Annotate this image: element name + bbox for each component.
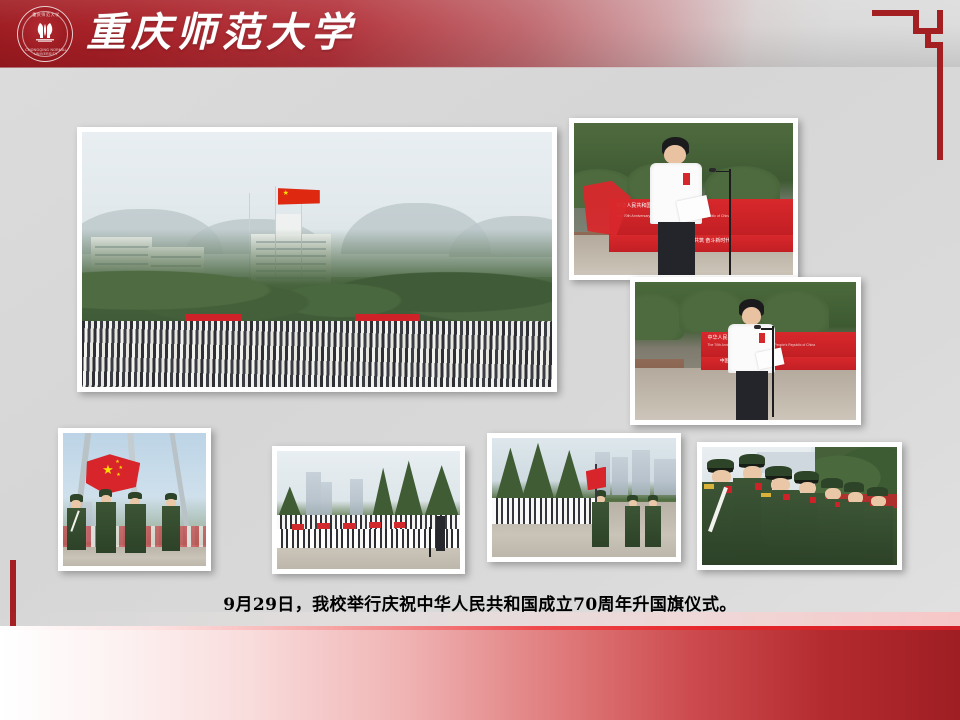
slide-canvas: 重庆师范大学 CHONGQING NORMAL UNIVERSITY 重庆师范大… bbox=[0, 0, 960, 720]
city-building bbox=[632, 450, 650, 495]
red-placard bbox=[343, 523, 356, 529]
red-banner bbox=[355, 314, 421, 321]
bottom-gradient-band bbox=[0, 626, 960, 720]
photo-students-assembly-image bbox=[277, 451, 460, 569]
honor-guard-member bbox=[123, 492, 147, 553]
tree bbox=[423, 465, 460, 519]
photo-speaker-top[interactable]: 中华人民共和国成立70周年 The 70th Anniversary of th… bbox=[569, 118, 798, 280]
city-building bbox=[654, 459, 676, 495]
photo-speaker-top-image: 中华人民共和国成立70周年 The 70th Anniversary of th… bbox=[574, 123, 793, 275]
speaker-person bbox=[640, 137, 714, 275]
photo-honor-guard-lineup-image bbox=[702, 447, 897, 565]
university-name-title: 重庆师范大学 bbox=[86, 4, 356, 62]
honor-guard-member bbox=[864, 487, 893, 565]
city-building bbox=[612, 457, 629, 495]
speaker-person bbox=[436, 516, 445, 551]
photo-main-ceremony-image: ★ bbox=[82, 132, 552, 387]
tree bbox=[521, 443, 554, 500]
city-building bbox=[306, 472, 321, 514]
hedge bbox=[635, 293, 684, 340]
honor-guard-member bbox=[160, 493, 181, 552]
student-row bbox=[277, 529, 460, 548]
honor-guard-member bbox=[66, 494, 87, 550]
photo-flag-raising[interactable]: ★ ★ ★ ★ bbox=[58, 428, 211, 571]
tree bbox=[496, 448, 525, 500]
honor-guard-member bbox=[624, 495, 641, 547]
photo-speaker-bottom-image: 中华人民共和国成立70周年 The 70th Anniversary of th… bbox=[635, 282, 856, 420]
bottom-accent-stripe bbox=[0, 626, 960, 630]
top-right-corner-ornament bbox=[872, 10, 950, 160]
tree bbox=[394, 460, 423, 517]
tree bbox=[555, 450, 584, 500]
microphone-stand bbox=[429, 527, 431, 558]
microphone-stand bbox=[729, 169, 731, 275]
tree-line bbox=[82, 229, 552, 331]
photo-main-ceremony[interactable]: ★ bbox=[77, 127, 557, 392]
photo-flag-raising-image: ★ ★ ★ ★ bbox=[63, 433, 206, 566]
seal-emblem-icon bbox=[32, 19, 58, 45]
header-banner: 重庆师范大学 CHONGQING NORMAL UNIVERSITY 重庆师范大… bbox=[0, 0, 960, 67]
header-underline bbox=[0, 66, 960, 68]
chinese-flag: ★ bbox=[278, 188, 320, 205]
city-building bbox=[321, 482, 332, 515]
red-placard bbox=[292, 524, 305, 530]
seal-ring-text-bottom: CHONGQING NORMAL UNIVERSITY bbox=[18, 48, 74, 56]
honor-guard-member bbox=[645, 495, 662, 547]
photo-students-assembly[interactable] bbox=[272, 446, 465, 574]
tree bbox=[372, 468, 394, 518]
microphone-stand bbox=[772, 326, 774, 417]
honor-guard-member bbox=[94, 489, 117, 553]
chinese-flag bbox=[586, 467, 606, 491]
crowd-of-students bbox=[82, 321, 552, 387]
photo-honor-guard-lineup[interactable] bbox=[697, 442, 902, 570]
seal-ring-text-top: 重庆师范大学 bbox=[18, 12, 74, 18]
photo-honor-guard-march-image bbox=[492, 438, 676, 557]
red-banner bbox=[185, 314, 241, 321]
red-placard bbox=[369, 522, 382, 528]
red-placard bbox=[394, 522, 405, 528]
photo-honor-guard-march[interactable] bbox=[487, 433, 681, 562]
university-seal-icon: 重庆师范大学 CHONGQING NORMAL UNIVERSITY bbox=[17, 6, 73, 62]
city-building bbox=[350, 479, 363, 514]
red-placard bbox=[317, 523, 330, 529]
student-row bbox=[492, 498, 595, 524]
photo-speaker-bottom[interactable]: 中华人民共和国成立70周年 The 70th Anniversary of th… bbox=[630, 277, 861, 425]
